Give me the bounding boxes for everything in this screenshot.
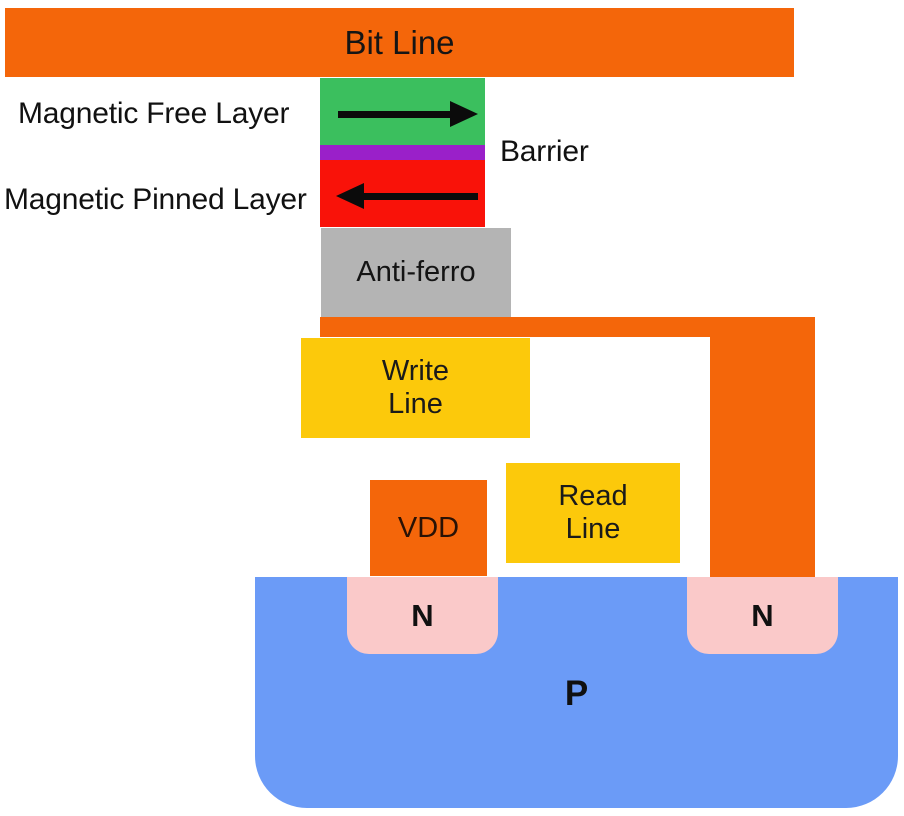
magnetic-pinned-layer-annotation: Magnetic Pinned Layer bbox=[4, 184, 307, 216]
read-line-block: Read Line bbox=[506, 463, 680, 563]
connector-vertical-segment bbox=[710, 317, 815, 582]
write-line-label-line1: Write bbox=[382, 355, 449, 387]
bit-line-bar: Bit Line bbox=[5, 8, 794, 77]
magnetic-free-layer-annotation: Magnetic Free Layer bbox=[18, 98, 289, 130]
read-line-label-line2: Line bbox=[566, 513, 621, 545]
tunnel-barrier-block bbox=[320, 145, 485, 160]
anti-ferro-layer-block: Anti-ferro bbox=[321, 228, 511, 317]
write-line-label-line2: Line bbox=[388, 388, 443, 420]
p-substrate-label: P bbox=[255, 672, 898, 716]
vdd-contact-block: VDD bbox=[370, 480, 487, 576]
magnetic-free-layer-block bbox=[320, 78, 485, 145]
anti-ferro-label: Anti-ferro bbox=[356, 256, 475, 289]
n-well-left-label: N bbox=[411, 598, 433, 634]
n-well-right-label: N bbox=[751, 598, 773, 634]
barrier-annotation: Barrier bbox=[500, 136, 589, 168]
n-well-left: N bbox=[347, 577, 498, 654]
read-line-label-line1: Read bbox=[558, 480, 627, 512]
write-line-label: Write Line bbox=[382, 355, 449, 421]
n-well-right: N bbox=[687, 577, 838, 654]
read-line-label: Read Line bbox=[558, 480, 627, 546]
vdd-label: VDD bbox=[398, 512, 459, 545]
magnetic-pinned-layer-block bbox=[320, 160, 485, 227]
bit-line-label: Bit Line bbox=[344, 24, 454, 62]
write-line-block: Write Line bbox=[301, 338, 530, 438]
mram-cell-diagram: Bit Line Anti-ferro Write Line VDD Read … bbox=[0, 0, 904, 816]
